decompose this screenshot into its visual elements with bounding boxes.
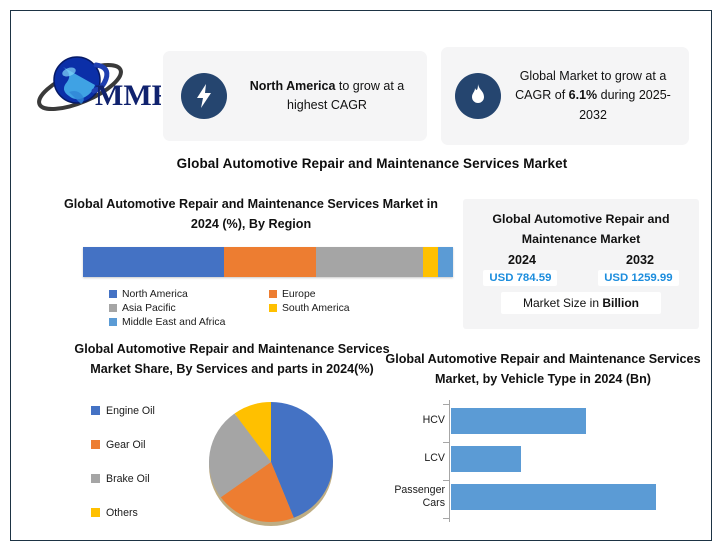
services-pie-legend: Engine OilGear OilBrake OilOthers <box>91 394 203 530</box>
region-legend-item: Middle East and Africa <box>109 317 269 328</box>
vehicle-type-chart: HCVLCVPassenger Cars <box>383 400 703 522</box>
pie-legend-item: Others <box>91 496 203 530</box>
infographic-frame: MMR North America to grow at a highest C… <box>10 10 712 541</box>
region-chart-title: Global Automotive Repair and Maintenance… <box>51 194 451 235</box>
legend-swatch-icon <box>109 290 117 298</box>
legend-swatch-icon <box>91 440 100 449</box>
region-legend-item: North America <box>109 289 269 300</box>
vehicle-type-bar-lcv <box>451 446 521 472</box>
lightning-bolt-icon <box>181 73 227 119</box>
market-size-value-2024: USD 784.59 <box>483 270 557 286</box>
region-legend-label: Asia Pacific <box>122 303 176 314</box>
page-title: Global Automotive Repair and Maintenance… <box>11 156 722 171</box>
legend-swatch-icon <box>91 406 100 415</box>
region-legend-label: Europe <box>282 289 316 300</box>
legend-swatch-icon <box>91 474 100 483</box>
highlight-card-cagr: Global Market to grow at a CAGR of 6.1% … <box>441 47 689 145</box>
region-legend-label: South America <box>282 303 350 314</box>
legend-swatch-icon <box>109 304 117 312</box>
vehicle-type-bar-passenger-cars <box>451 484 656 510</box>
market-size-unit: Market Size in Billion <box>501 292 661 314</box>
region-segment-middle-east-and-africa <box>438 247 453 277</box>
region-legend-item: South America <box>269 303 429 314</box>
highlight-card-north-america-text: North America to grow at a highest CAGR <box>239 77 427 116</box>
services-pie-area: Engine OilGear OilBrake OilOthers <box>67 388 397 538</box>
vehicle-type-label: LCV <box>383 452 451 465</box>
region-legend-label: North America <box>122 289 188 300</box>
legend-swatch-icon <box>91 508 100 517</box>
highlight-bold-region: North America <box>250 79 336 93</box>
pie-legend-label: Brake Oil <box>106 473 150 485</box>
market-size-panel: Global Automotive Repair and Maintenance… <box>463 199 699 329</box>
market-size-unit-pre: Market Size in <box>523 296 602 310</box>
vehicle-type-row: LCV <box>383 442 703 476</box>
year-2032-label: 2032 <box>626 253 654 267</box>
market-size-values: USD 784.59 USD 1259.99 <box>463 270 699 286</box>
region-segment-asia-pacific <box>316 247 423 277</box>
market-size-years: 2024 2032 <box>463 253 699 267</box>
vehicle-type-label: HCV <box>383 414 451 427</box>
vehicle-type-label: Passenger Cars <box>383 484 451 510</box>
pie-legend-item: Engine Oil <box>91 394 203 428</box>
vehicle-type-axis-tick <box>443 442 449 443</box>
legend-swatch-icon <box>269 304 277 312</box>
legend-swatch-icon <box>269 290 277 298</box>
globe-orbit-logo: MMR <box>33 47 161 119</box>
services-pie-block: Global Automotive Repair and Maintenance… <box>67 339 397 538</box>
region-legend-label: Middle East and Africa <box>122 317 225 328</box>
vehicle-type-block: Global Automotive Repair and Maintenance… <box>383 349 703 522</box>
market-size-value-2032: USD 1259.99 <box>598 270 678 286</box>
vehicle-type-row: Passenger Cars <box>383 480 703 514</box>
region-stacked-bar-wrap <box>51 247 451 279</box>
pie-legend-item: Brake Oil <box>91 462 203 496</box>
highlight-card-cagr-text: Global Market to grow at a CAGR of 6.1% … <box>509 67 689 125</box>
vehicle-type-axis-tick <box>443 404 449 405</box>
market-size-title: Global Automotive Repair and Maintenance… <box>463 199 699 250</box>
pie-legend-label: Gear Oil <box>106 439 145 451</box>
services-pie-title: Global Automotive Repair and Maintenance… <box>67 339 397 380</box>
pie-legend-item: Gear Oil <box>91 428 203 462</box>
vehicle-type-axis-tick <box>443 518 449 519</box>
pie-legend-label: Engine Oil <box>106 405 155 417</box>
region-legend-item: Europe <box>269 289 429 300</box>
market-size-unit-bold: Billion <box>602 296 639 310</box>
pie-legend-label: Others <box>106 507 138 519</box>
highlight-card-north-america: North America to grow at a highest CAGR <box>163 51 427 141</box>
region-legend-item: Asia Pacific <box>109 303 269 314</box>
year-2024-label: 2024 <box>508 253 536 267</box>
vehicle-type-bar-hcv <box>451 408 586 434</box>
svg-text:MMR: MMR <box>95 79 161 112</box>
region-legend: North AmericaEuropeAsia PacificSouth Ame… <box>109 289 429 331</box>
region-stacked-bar <box>83 247 453 277</box>
region-segment-north-america <box>83 247 224 277</box>
vehicle-type-axis-tick <box>443 480 449 481</box>
legend-swatch-icon <box>109 318 117 326</box>
vehicle-type-row: HCV <box>383 404 703 438</box>
region-segment-south-america <box>423 247 438 277</box>
mmr-logo: MMR <box>33 47 161 119</box>
flame-icon <box>455 73 501 119</box>
cagr-value: 6.1% <box>569 88 598 102</box>
region-segment-europe <box>224 247 317 277</box>
services-pie-chart <box>207 396 335 528</box>
region-chart-block: Global Automotive Repair and Maintenance… <box>51 194 451 331</box>
vehicle-type-title: Global Automotive Repair and Maintenance… <box>383 349 703 390</box>
